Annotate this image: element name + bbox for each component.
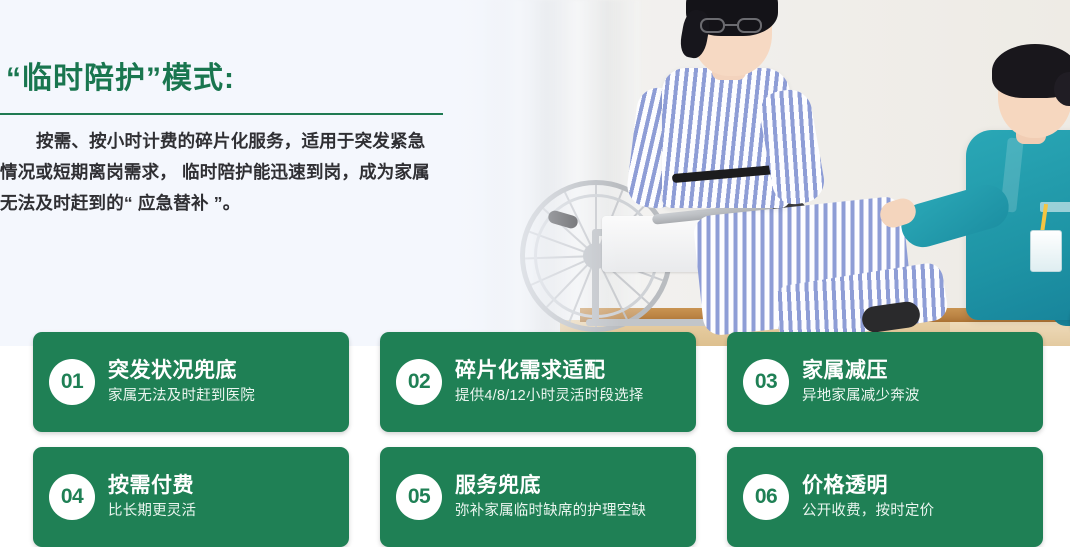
card-number-badge: 04: [49, 474, 95, 520]
card-title: 家属减压: [802, 357, 920, 384]
card-number-badge: 05: [396, 474, 442, 520]
promo-page: “临时陪护”模式: 按需、按小时计费的碎片化服务，适用于突发紧急情况或短期离岗需…: [0, 0, 1070, 547]
card-subtitle: 异地家属减少奔波: [802, 385, 920, 407]
feature-card-03[interactable]: 03 家属减压 异地家属减少奔波: [727, 332, 1043, 432]
card-subtitle: 家属无法及时赶到医院: [108, 385, 255, 407]
card-subtitle: 比长期更灵活: [108, 500, 196, 522]
feature-card-05[interactable]: 05 服务兜底 弥补家属临时缺席的护理空缺: [380, 447, 696, 547]
card-title: 碎片化需求适配: [455, 357, 644, 384]
card-title: 突发状况兜底: [108, 357, 255, 384]
card-number-badge: 01: [49, 359, 95, 405]
card-title: 按需付费: [108, 472, 196, 499]
card-subtitle: 弥补家属临时缺席的护理空缺: [455, 500, 646, 522]
feature-card-02[interactable]: 02 碎片化需求适配 提供4/8/12小时灵活时段选择: [380, 332, 696, 432]
card-number-badge: 06: [743, 474, 789, 520]
card-title: 服务兜底: [455, 472, 646, 499]
feature-card-grid: 01 突发状况兜底 家属无法及时赶到医院 02 碎片化需求适配 提供4/8/12…: [0, 0, 1070, 547]
feature-card-04[interactable]: 04 按需付费 比长期更灵活: [33, 447, 349, 547]
card-number-badge: 02: [396, 359, 442, 405]
feature-card-01[interactable]: 01 突发状况兜底 家属无法及时赶到医院: [33, 332, 349, 432]
card-subtitle: 公开收费，按时定价: [802, 500, 934, 522]
card-number-badge: 03: [743, 359, 789, 405]
feature-card-06[interactable]: 06 价格透明 公开收费，按时定价: [727, 447, 1043, 547]
card-title: 价格透明: [802, 472, 934, 499]
card-subtitle: 提供4/8/12小时灵活时段选择: [455, 385, 644, 407]
